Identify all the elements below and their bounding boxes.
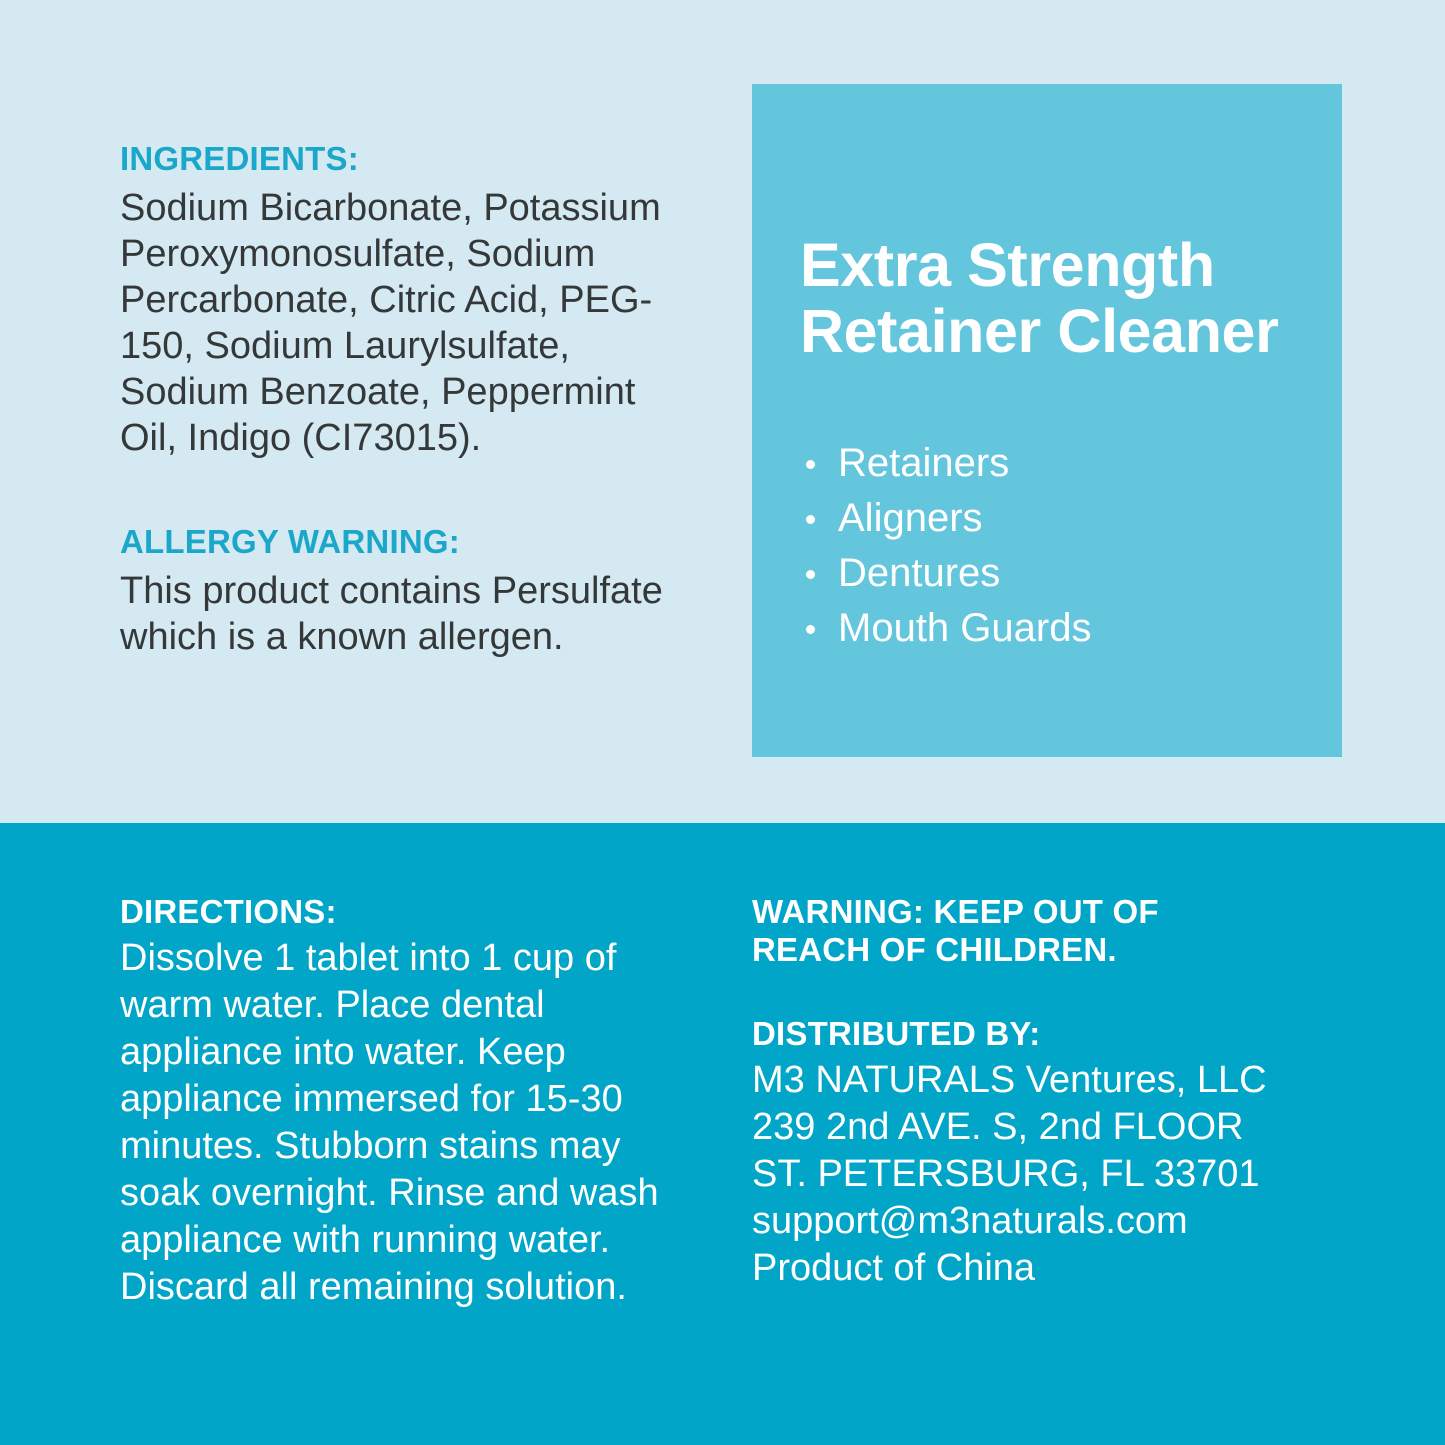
child-safety-warning-heading: WARNING: KEEP OUT OF REACH OF CHILDREN.	[752, 893, 1272, 969]
distributor-line: 239 2nd AVE. S, 2nd FLOOR	[752, 1104, 1272, 1151]
feature-label: Retainers	[838, 441, 1009, 485]
bullet-icon	[806, 460, 815, 469]
bullet-icon	[806, 515, 815, 524]
warning-distributor-column: WARNING: KEEP OUT OF REACH OF CHILDREN. …	[752, 893, 1272, 1292]
distributor-origin: Product of China	[752, 1245, 1272, 1292]
feature-list: Retainers Aligners Dentures Mouth Guards	[800, 436, 1091, 656]
distributor-email: support@m3naturals.com	[752, 1198, 1272, 1245]
list-item: Mouth Guards	[800, 601, 1091, 656]
list-item: Aligners	[800, 491, 1091, 546]
list-item: Dentures	[800, 546, 1091, 601]
section-spacer	[120, 461, 700, 523]
distributor-heading: DISTRIBUTED BY:	[752, 1015, 1272, 1053]
product-title-box: Extra Strength Retainer Cleaner Retainer…	[752, 84, 1342, 757]
ingredients-heading: INGREDIENTS:	[120, 140, 700, 179]
ingredients-text: Sodium Bicarbonate, Potassium Peroxymono…	[120, 185, 700, 461]
directions-column: DIRECTIONS: Dissolve 1 tablet into 1 cup…	[120, 893, 680, 1311]
section-spacer	[752, 973, 1272, 1015]
allergy-warning-section: ALLERGY WARNING: This product contains P…	[120, 523, 700, 660]
directions-heading: DIRECTIONS:	[120, 893, 680, 931]
distributor-line: ST. PETERSBURG, FL 33701	[752, 1151, 1272, 1198]
ingredients-allergy-column: INGREDIENTS: Sodium Bicarbonate, Potassi…	[120, 140, 700, 660]
list-item: Retainers	[800, 436, 1091, 491]
directions-text: Dissolve 1 tablet into 1 cup of warm wat…	[120, 935, 680, 1311]
allergy-warning-text: This product contains Persulfate which i…	[120, 568, 700, 660]
product-title: Extra Strength Retainer Cleaner	[800, 232, 1320, 364]
feature-label: Mouth Guards	[838, 606, 1091, 650]
allergy-warning-heading: ALLERGY WARNING:	[120, 523, 700, 562]
ingredients-section: INGREDIENTS: Sodium Bicarbonate, Potassi…	[120, 140, 700, 461]
product-label: INGREDIENTS: Sodium Bicarbonate, Potassi…	[0, 0, 1445, 1445]
feature-label: Dentures	[838, 551, 1000, 595]
bullet-icon	[806, 570, 815, 579]
feature-label: Aligners	[838, 496, 983, 540]
distributor-line: M3 NATURALS Ventures, LLC	[752, 1057, 1272, 1104]
bullet-icon	[806, 625, 815, 634]
